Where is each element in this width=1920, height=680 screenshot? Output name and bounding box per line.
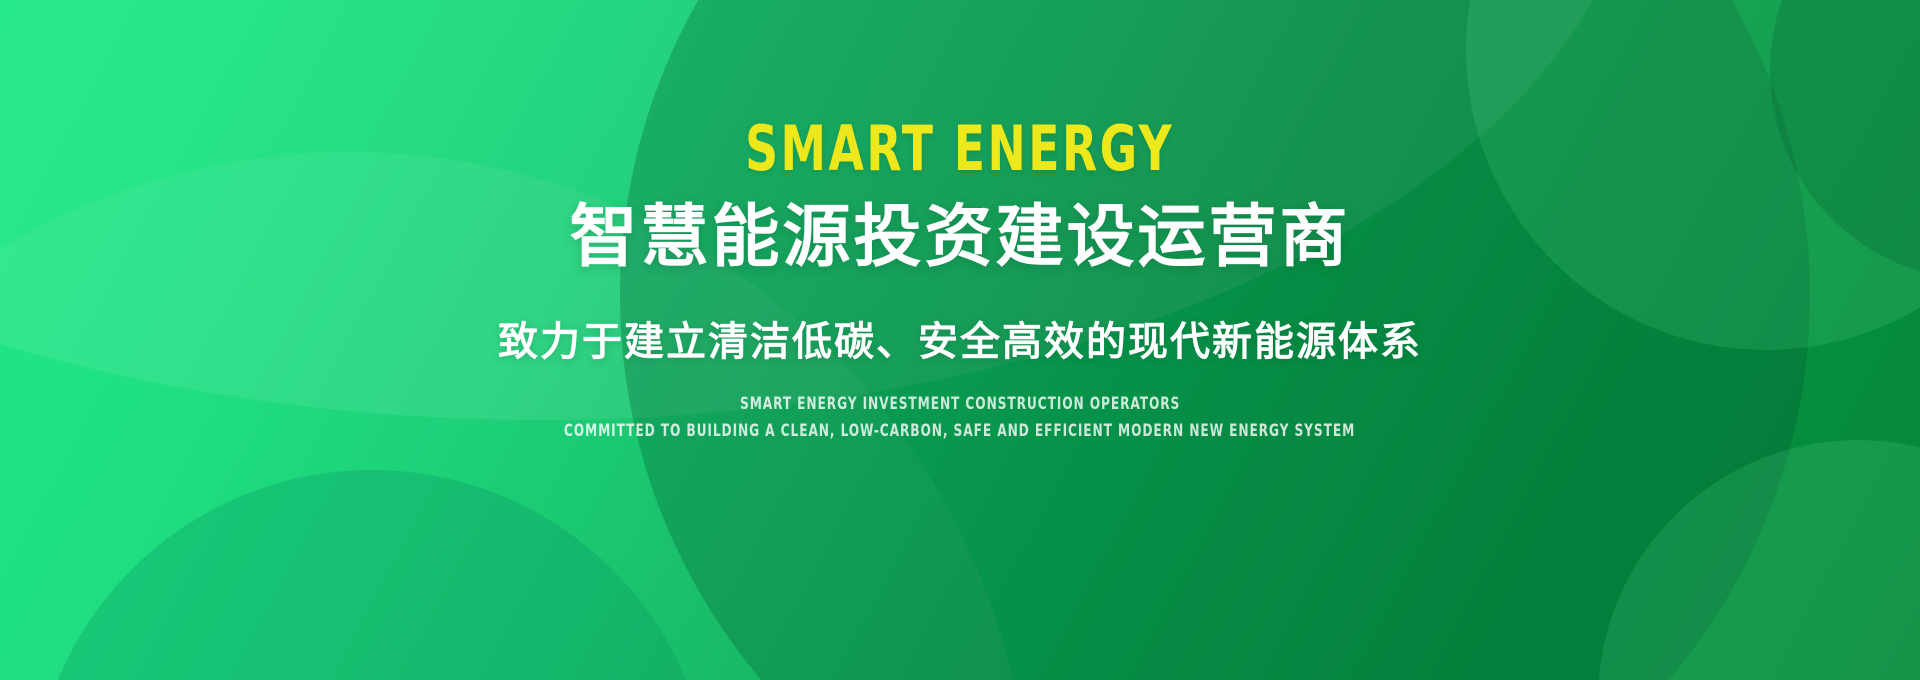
banner-caption-line-1: SMART ENERGY INVESTMENT CONSTRUCTION OPE…: [740, 392, 1180, 417]
banner-subheadline: 致力于建立清洁低碳、安全高效的现代新能源体系: [498, 322, 1422, 362]
banner-caption-line-2: COMMITTED TO BUILDING A CLEAN, LOW-CARBO…: [564, 419, 1355, 444]
banner-headline: 智慧能源投资建设运营商: [569, 204, 1350, 272]
banner-content: SMART ENERGY 智慧能源投资建设运营商 致力于建立清洁低碳、安全高效的…: [0, 0, 1920, 680]
hero-banner: SMART ENERGY 智慧能源投资建设运营商 致力于建立清洁低碳、安全高效的…: [0, 0, 1920, 680]
banner-eyebrow: SMART ENERGY: [745, 118, 1174, 180]
